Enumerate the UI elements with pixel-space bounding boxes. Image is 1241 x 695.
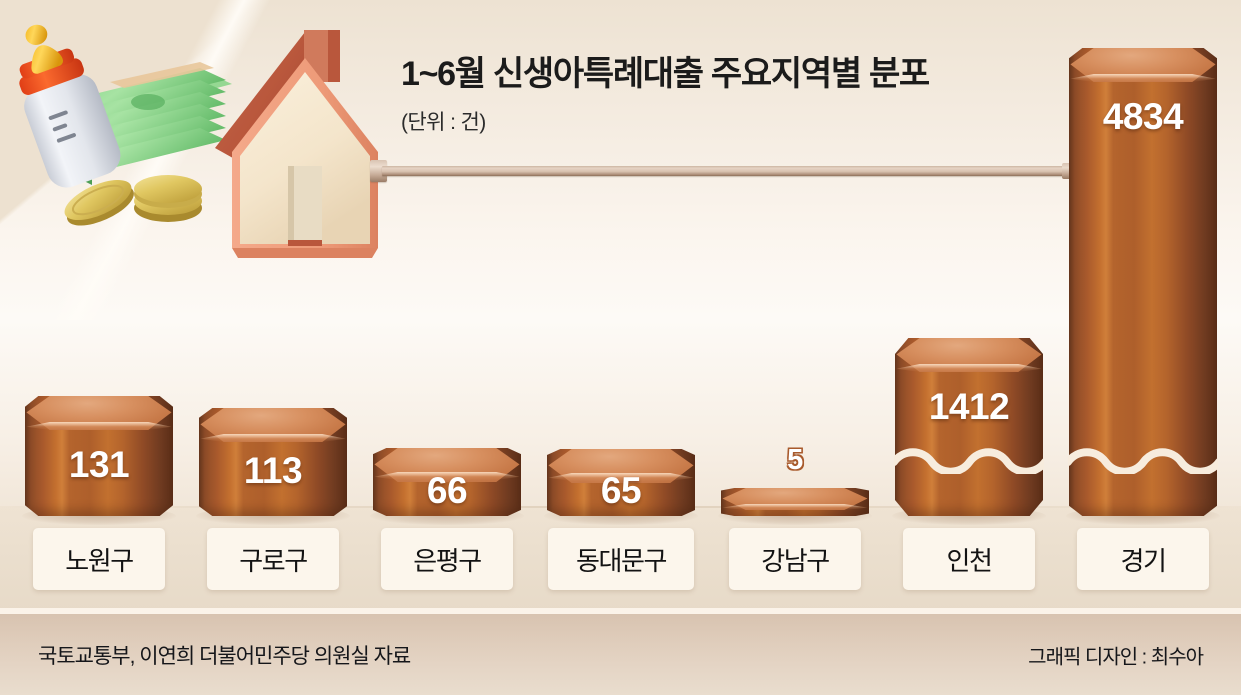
bar-prism — [721, 488, 869, 516]
footer-bar: 국토교통부, 이연희 더불어민주당 의원실 자료 그래픽 디자인 : 최수아 — [0, 614, 1241, 695]
bar-group-0[interactable]: 131 — [25, 396, 173, 516]
category-label-3[interactable]: 동대문구 — [548, 528, 694, 590]
bar-value-5: 1412 — [895, 386, 1043, 428]
category-label-4[interactable]: 강남구 — [729, 528, 861, 590]
bar-value-3: 65 — [547, 470, 695, 512]
category-label-text-6: 경기 — [1120, 541, 1165, 578]
bar-value-2: 66 — [373, 470, 521, 512]
bar-prism: 66 — [373, 448, 521, 516]
category-label-text-0: 노원구 — [65, 541, 133, 578]
bar-group-3[interactable]: 65 — [547, 449, 695, 516]
source-credit: 국토교통부, 이연희 더불어민주당 의원실 자료 — [38, 640, 410, 670]
category-label-text-5: 인천 — [946, 541, 991, 578]
bar-value-4: 5 — [721, 444, 869, 477]
infographic-canvas: 1~6월 신생아특례대출 주요지역별 분포 (단위 : 건) 131 노원구 — [0, 0, 1241, 695]
bar-group-6[interactable]: 4834 — [1069, 48, 1217, 516]
bar-top-face — [1070, 48, 1215, 82]
designer-credit: 그래픽 디자인 : 최수아 — [1028, 640, 1203, 669]
category-label-2[interactable]: 은평구 — [381, 528, 513, 590]
bar-prism: 131 — [25, 396, 173, 516]
bar-chart: 131 노원구 113 구로구 66 — [0, 0, 1241, 614]
bar-value-6: 4834 — [1069, 96, 1217, 138]
category-label-text-4: 강남구 — [761, 541, 829, 578]
bar-top-face — [722, 488, 867, 510]
category-label-0[interactable]: 노원구 — [33, 528, 165, 590]
bar-top-face — [200, 408, 345, 442]
bar-group-1[interactable]: 113 — [199, 408, 347, 516]
bar-group-5[interactable]: 1412 — [895, 338, 1043, 516]
category-label-text-2: 은평구 — [413, 541, 481, 578]
bar-top-face — [26, 396, 171, 430]
category-label-1[interactable]: 구로구 — [207, 528, 339, 590]
bar-prism: 1412 — [895, 338, 1043, 516]
bar-group-4[interactable]: 5 — [721, 488, 869, 516]
bar-prism: 65 — [547, 449, 695, 516]
category-label-text-1: 구로구 — [239, 541, 307, 578]
bar-value-0: 131 — [25, 444, 173, 486]
bar-top-face — [896, 338, 1041, 372]
bar-prism: 113 — [199, 408, 347, 516]
category-label-text-3: 동대문구 — [576, 541, 666, 578]
bar-group-2[interactable]: 66 — [373, 448, 521, 516]
bar-prism: 4834 — [1069, 48, 1217, 516]
category-label-5[interactable]: 인천 — [903, 528, 1035, 590]
bar-value-1: 113 — [199, 450, 347, 492]
category-label-6[interactable]: 경기 — [1077, 528, 1209, 590]
